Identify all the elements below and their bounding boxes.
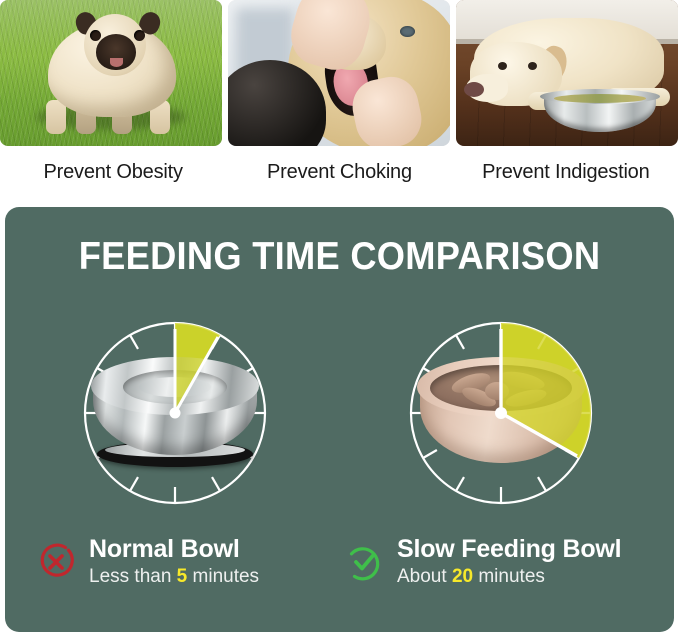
legend-title-normal: Normal Bowl xyxy=(89,535,355,564)
caption-prevent-indigestion: Prevent Indigestion xyxy=(453,150,679,200)
clock-slow-feeding-bowl xyxy=(401,313,601,513)
clock-normal-bowl xyxy=(75,313,275,513)
photo-prevent-obesity xyxy=(0,0,222,146)
photo-prevent-choking-image xyxy=(228,0,450,146)
clock-center-pin xyxy=(170,408,181,419)
labrador-eye xyxy=(528,62,537,70)
legend-sub-value: 5 xyxy=(177,566,188,587)
photo-prevent-indigestion-image xyxy=(456,0,678,146)
pug-eye xyxy=(134,30,145,41)
photo-row xyxy=(0,0,679,150)
legend-title-slow: Slow Feeding Bowl xyxy=(397,535,663,564)
legend-subtitle-normal: Less than 5 minutes xyxy=(89,565,355,589)
legend-sub-suffix: minutes xyxy=(187,566,259,587)
legend-sub-prefix: Less than xyxy=(89,566,177,587)
retriever-eye xyxy=(400,26,415,37)
legend-text-group: Normal Bowl Less than 5 minutes xyxy=(89,535,355,589)
comparison-panel: FEEDING TIME COMPARISON xyxy=(5,207,674,632)
pug-tongue xyxy=(110,58,123,67)
legend-sub-suffix: minutes xyxy=(473,566,545,587)
clock-hands-slow xyxy=(401,313,601,513)
bowl-food xyxy=(554,94,646,103)
legend-slow-feeding-bowl: Slow Feeding Bowl About 20 minutes xyxy=(343,527,663,597)
photo-prevent-indigestion xyxy=(456,0,678,146)
labrador-eye xyxy=(498,62,507,70)
legend-normal-bowl: Normal Bowl Less than 5 minutes xyxy=(35,527,355,597)
photo-caption-row: Prevent Obesity Prevent Choking Prevent … xyxy=(0,150,679,200)
caption-prevent-obesity: Prevent Obesity xyxy=(0,150,226,200)
legend-subtitle-slow: About 20 minutes xyxy=(397,565,663,589)
page-title: FEEDING TIME COMPARISON xyxy=(28,235,650,279)
legend-sub-prefix: About xyxy=(397,566,452,587)
legend-text-group: Slow Feeding Bowl About 20 minutes xyxy=(397,535,663,589)
photo-prevent-obesity-image xyxy=(0,0,222,146)
photo-prevent-choking xyxy=(228,0,450,146)
pug-eye xyxy=(90,30,101,41)
cross-circle-icon xyxy=(35,541,77,583)
clock-center-pin xyxy=(495,407,507,419)
caption-prevent-choking: Prevent Choking xyxy=(226,150,452,200)
check-circle-icon xyxy=(343,541,385,583)
clock-hands-normal xyxy=(75,313,275,513)
labrador-nose xyxy=(464,82,484,97)
legend-sub-value: 20 xyxy=(452,566,473,587)
